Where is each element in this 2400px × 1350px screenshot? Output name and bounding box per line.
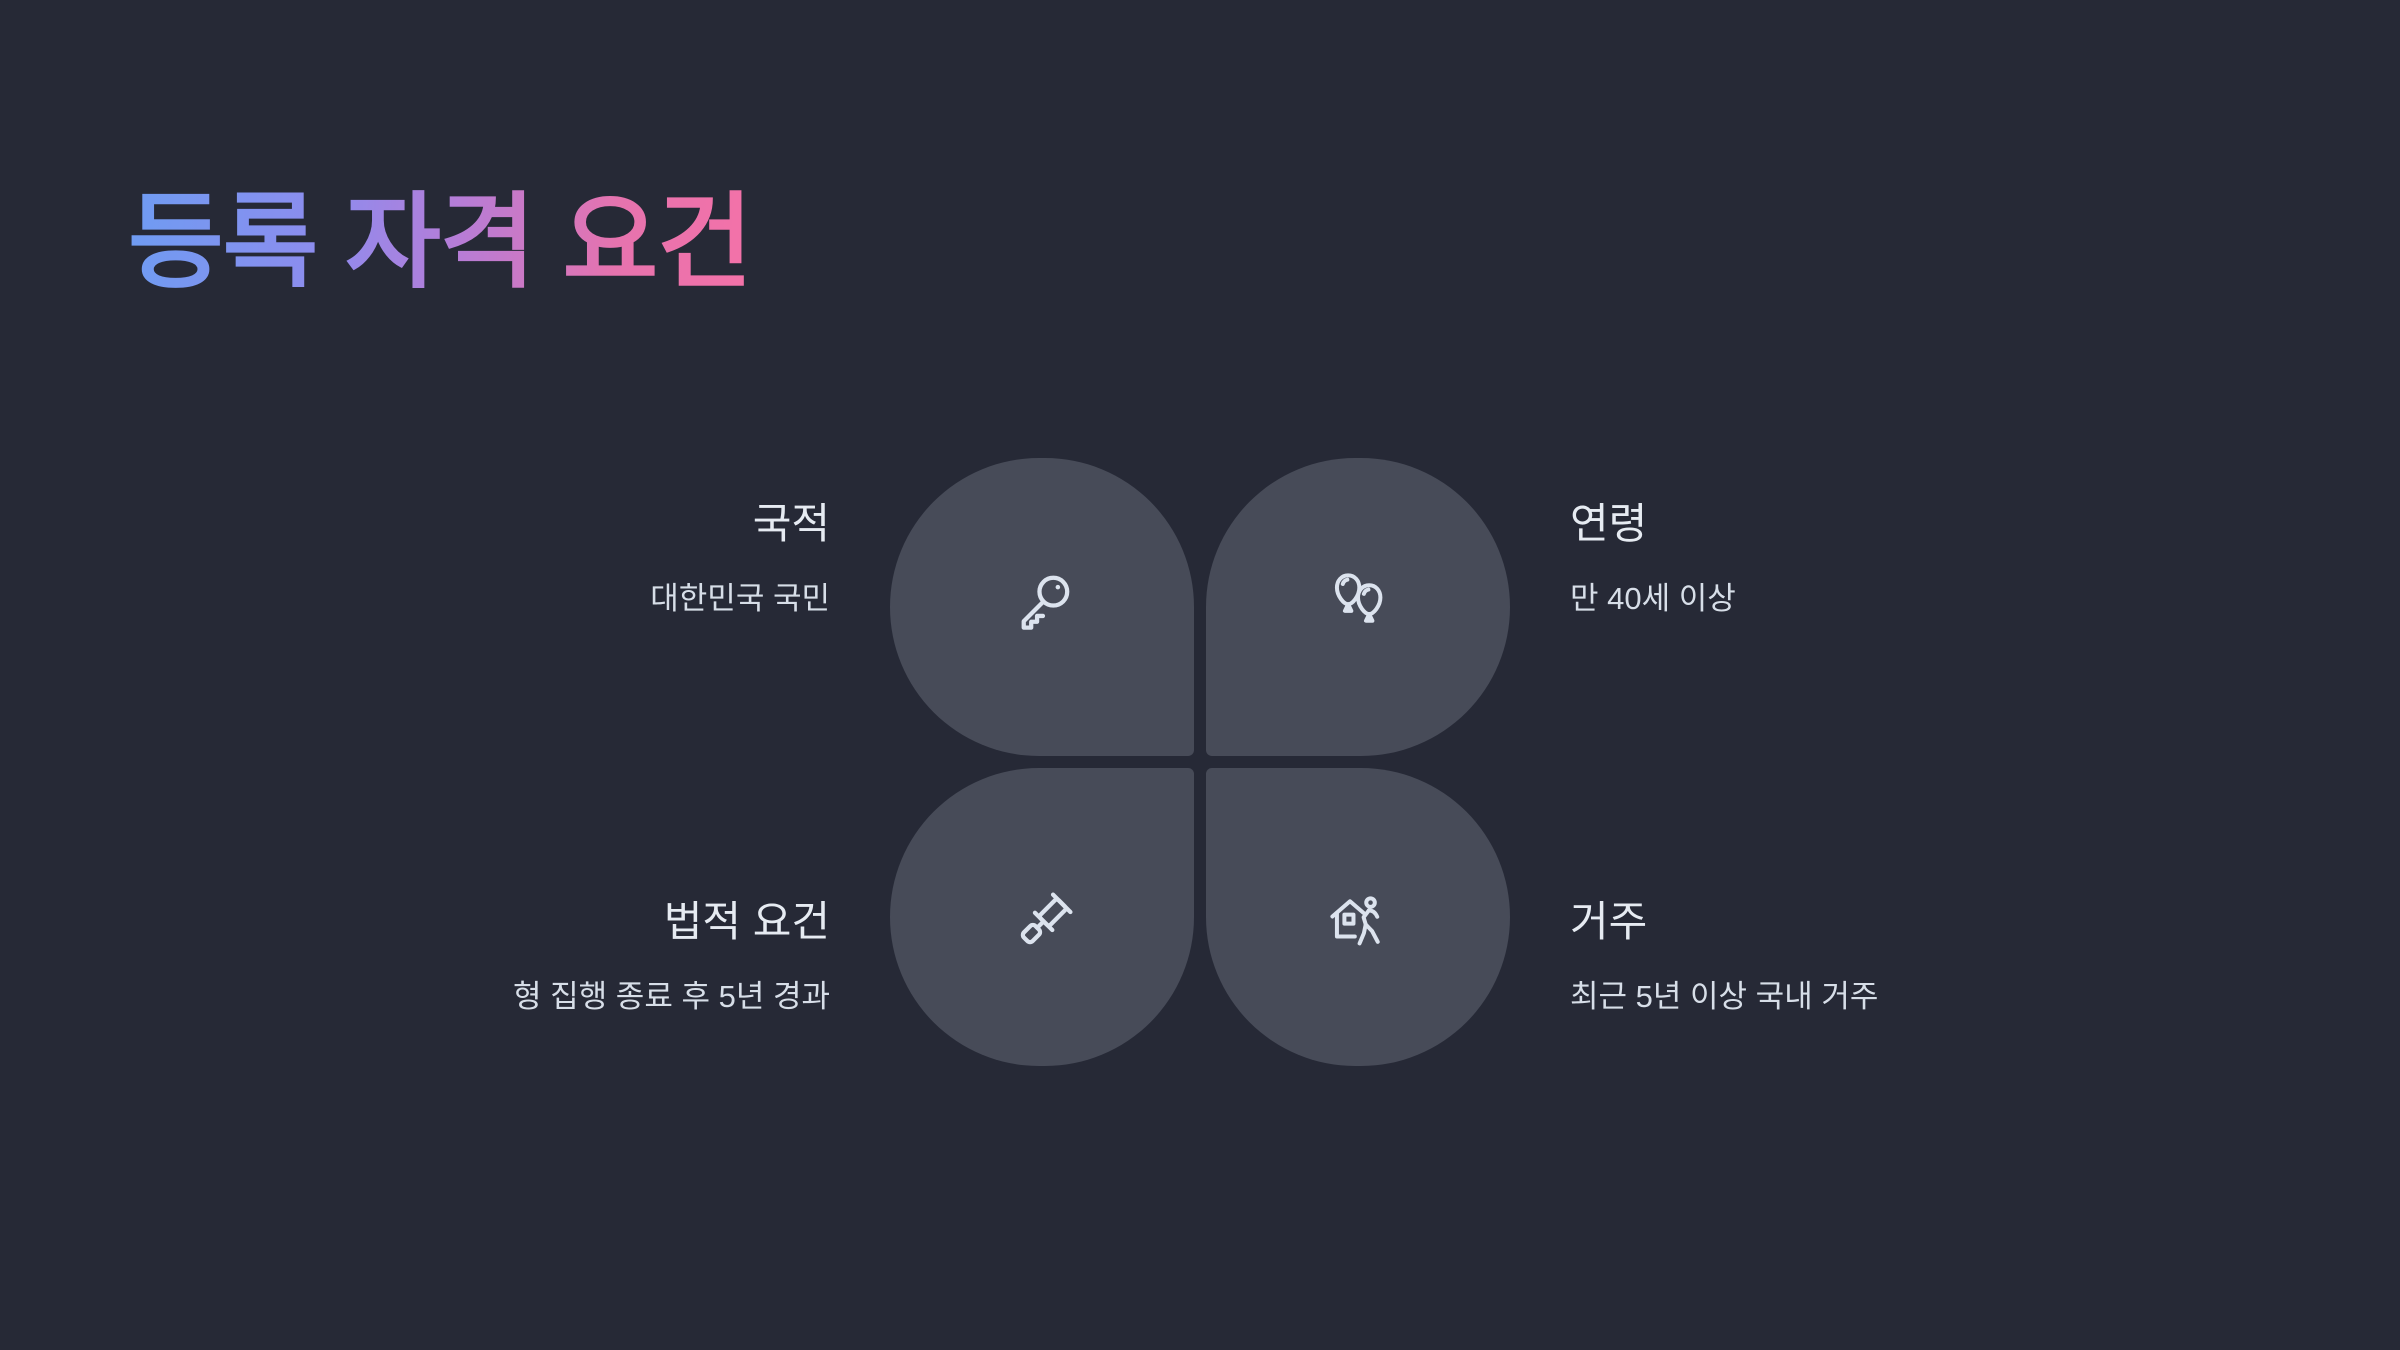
- label-heading-legal: 법적 요건: [190, 896, 830, 949]
- petal-legal[interactable]: [890, 768, 1194, 1066]
- label-block-nationality: 국적 대한민국 국민: [190, 498, 830, 619]
- petal-nationality[interactable]: [890, 458, 1194, 756]
- gavel-icon: [1012, 889, 1076, 953]
- label-subtext-age: 만 40세 이상: [1570, 579, 2210, 619]
- label-subtext-legal: 형 집행 종료 후 5년 경과: [190, 977, 830, 1017]
- petal-age[interactable]: [1206, 458, 1510, 756]
- label-block-residence: 거주 최근 5년 이상 국내 거주: [1570, 896, 2210, 1017]
- slide-root: 등록 자격 요건: [0, 0, 2400, 1350]
- page-title: 등록 자격 요건: [128, 182, 752, 305]
- house-person-icon: [1326, 889, 1390, 953]
- label-heading-nationality: 국적: [190, 498, 830, 551]
- petal-residence[interactable]: [1206, 768, 1510, 1066]
- label-block-legal: 법적 요건 형 집행 종료 후 5년 경과: [190, 896, 830, 1017]
- label-heading-residence: 거주: [1570, 896, 2210, 949]
- label-heading-age: 연령: [1570, 498, 2210, 551]
- label-subtext-nationality: 대한민국 국민: [190, 579, 830, 619]
- label-block-age: 연령 만 40세 이상: [1570, 498, 2210, 619]
- key-icon: [1012, 569, 1076, 633]
- balloons-icon: [1326, 569, 1390, 633]
- label-subtext-residence: 최근 5년 이상 국내 거주: [1570, 977, 2210, 1017]
- four-petal-diagram: [890, 458, 1510, 1066]
